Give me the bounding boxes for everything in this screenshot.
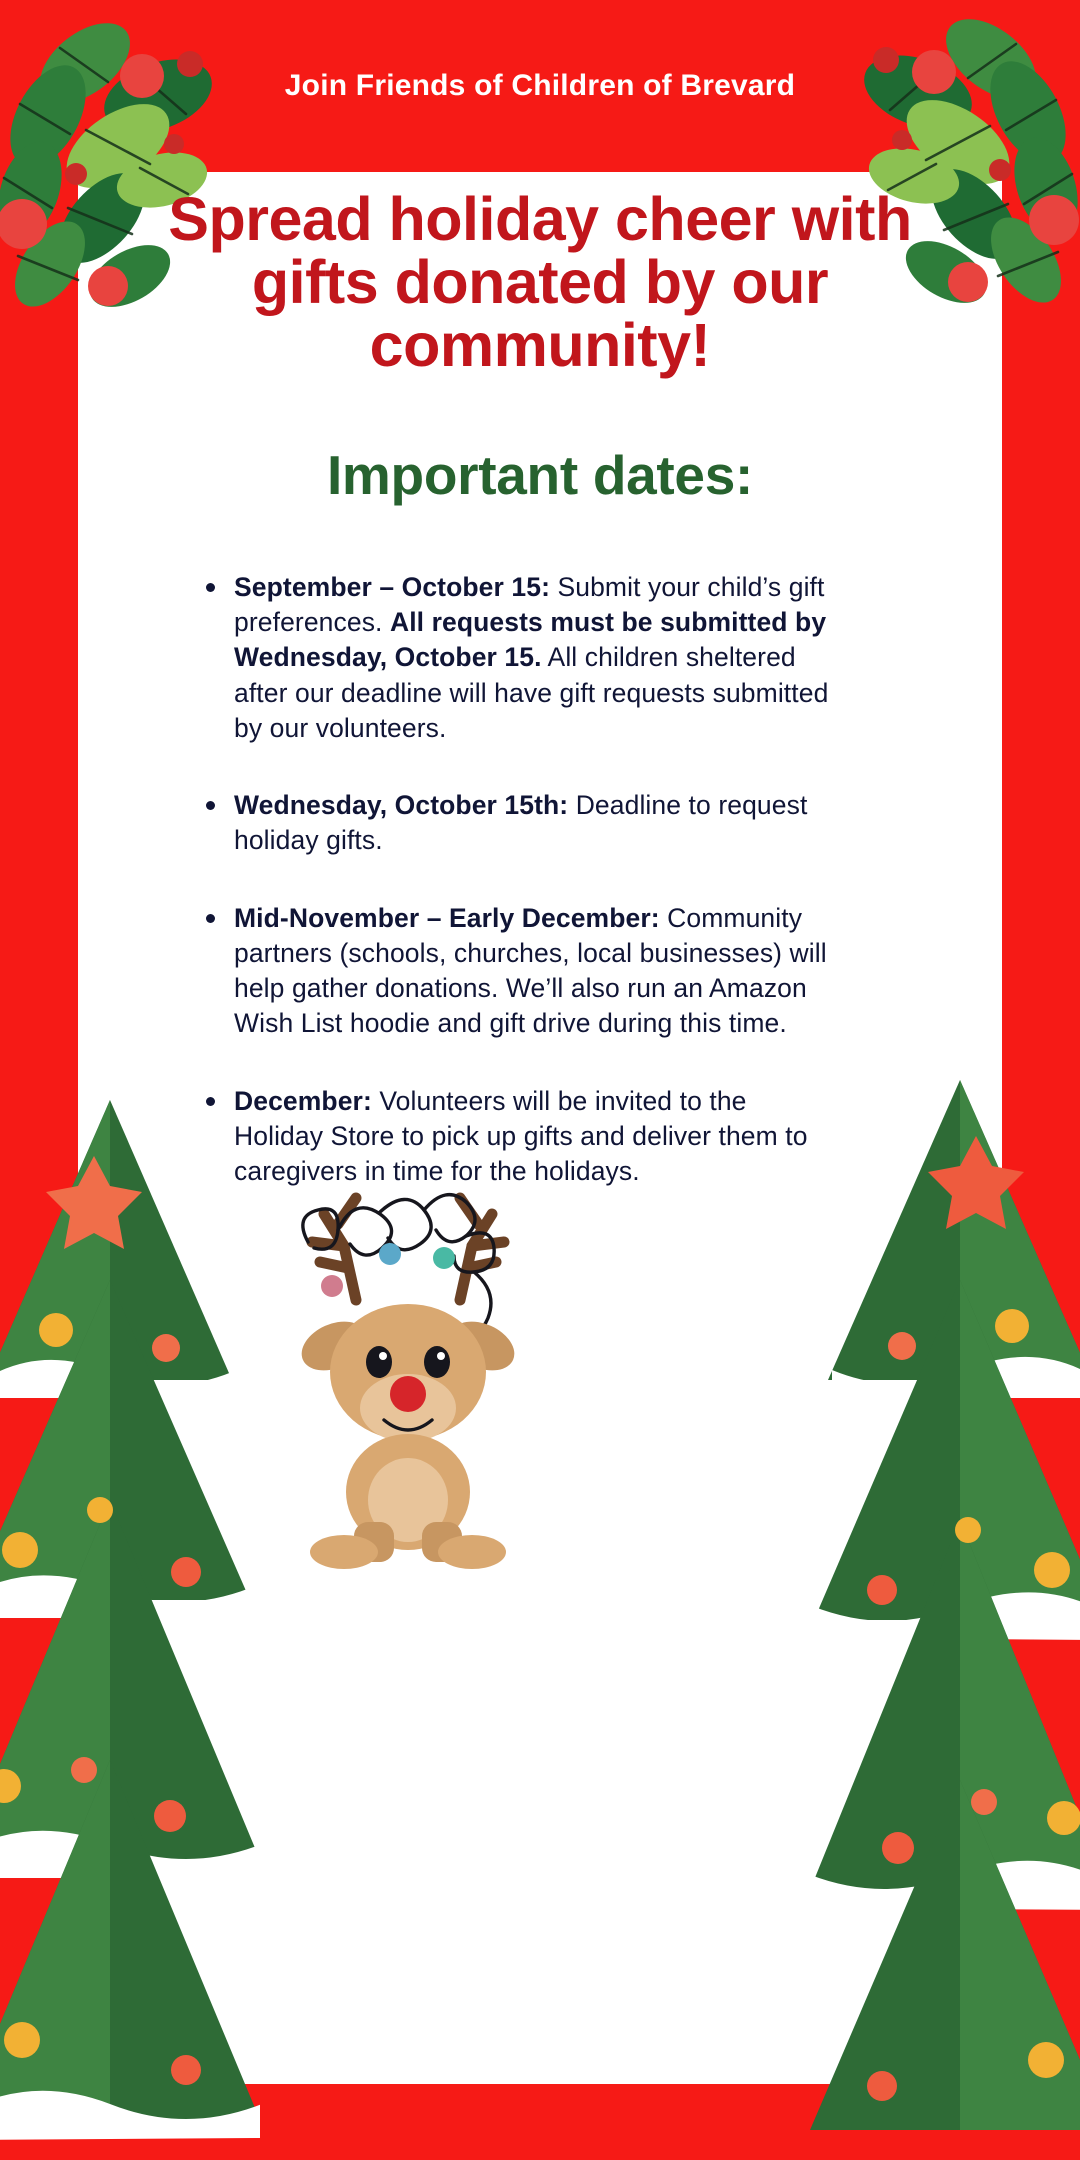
subhead-important-dates: Important dates: xyxy=(98,443,982,507)
bullet-lead-in: Mid-November – Early December: xyxy=(234,903,660,933)
bullet-text: Wednesday, October 15th: Deadline to req… xyxy=(234,788,840,858)
bullet-october-15-deadline: Wednesday, October 15th: Deadline to req… xyxy=(200,788,840,858)
bullet-mid-november-december: Mid-November – Early December: Community… xyxy=(200,901,840,1042)
bullet-lead-in: September – October 15: xyxy=(234,572,550,602)
bullet-dot-icon xyxy=(206,1097,215,1106)
bullet-lead-in: Wednesday, October 15th: xyxy=(234,790,568,820)
bullet-text: September – October 15: Submit your chil… xyxy=(234,570,840,746)
headline: Spread holiday cheer with gifts donated … xyxy=(98,188,982,376)
bullet-december: December: Volunteers will be invited to … xyxy=(200,1084,840,1190)
header-band: Join Friends of Children of Brevard xyxy=(0,0,1080,172)
bullet-text: December: Volunteers will be invited to … xyxy=(234,1084,840,1190)
bullet-text: Mid-November – Early December: Community… xyxy=(234,901,840,1042)
bullet-dot-icon xyxy=(206,914,215,923)
important-dates-list: September – October 15: Submit your chil… xyxy=(200,570,840,1231)
poster-canvas: Join Friends of Children of Brevard Spre… xyxy=(0,0,1080,2160)
bullet-september-october: September – October 15: Submit your chil… xyxy=(200,570,840,746)
bullet-dot-icon xyxy=(206,583,215,592)
bullet-dot-icon xyxy=(206,801,215,810)
page-title: Join Friends of Children of Brevard xyxy=(285,69,795,103)
bullet-lead-in: December: xyxy=(234,1086,372,1116)
